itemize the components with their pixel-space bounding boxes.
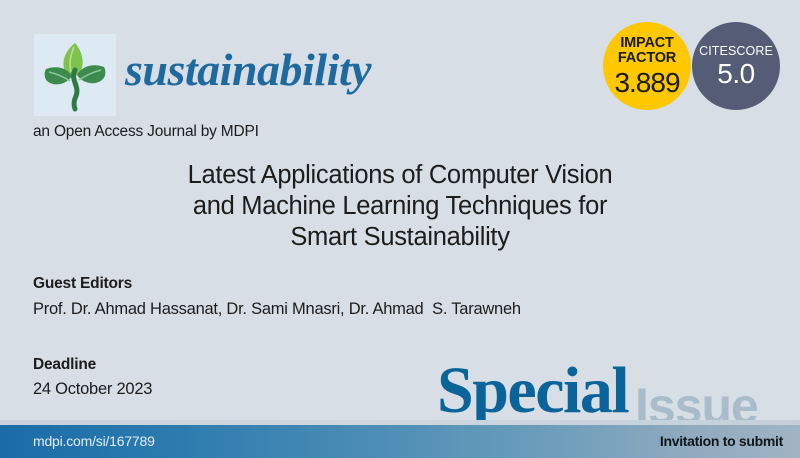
special-issue-url[interactable]: mdpi.com/si/167789 xyxy=(33,433,155,450)
impact-factor-value: 3.889 xyxy=(614,68,679,97)
impact-factor-label-line2: FACTOR xyxy=(618,51,676,67)
impact-factor-badge: IMPACT FACTOR 3.889 xyxy=(603,22,691,110)
invitation-to-submit-label[interactable]: Invitation to submit xyxy=(660,433,783,450)
footer-bar: mdpi.com/si/167789 Invitation to submit xyxy=(0,425,800,458)
citescore-value: 5.0 xyxy=(717,59,754,89)
sprout-leaves-icon xyxy=(34,34,116,116)
title-line-2: and Machine Learning Techniques for xyxy=(60,191,740,222)
special-issue-flyer: sustainability an Open Access Journal by… xyxy=(0,0,800,458)
title-line-1: Latest Applications of Computer Vision xyxy=(60,160,740,191)
impact-factor-label-line1: IMPACT xyxy=(620,36,673,52)
guest-editors-heading: Guest Editors xyxy=(33,274,132,294)
journal-wordmark: sustainability xyxy=(125,41,371,99)
title-line-3: Smart Sustainability xyxy=(60,222,740,253)
citescore-label: CITESCORE xyxy=(699,44,773,58)
deadline-date: 24 October 2023 xyxy=(33,378,152,400)
journal-subtitle: an Open Access Journal by MDPI xyxy=(33,122,259,142)
special-issue-title: Latest Applications of Computer Vision a… xyxy=(60,160,740,253)
deadline-heading: Deadline xyxy=(33,355,96,375)
guest-editors-names: Prof. Dr. Ahmad Hassanat, Dr. Sami Mnasr… xyxy=(33,298,521,320)
citescore-badge: CITESCORE 5.0 xyxy=(692,22,780,110)
watermark-special-text: Special xyxy=(437,358,628,424)
